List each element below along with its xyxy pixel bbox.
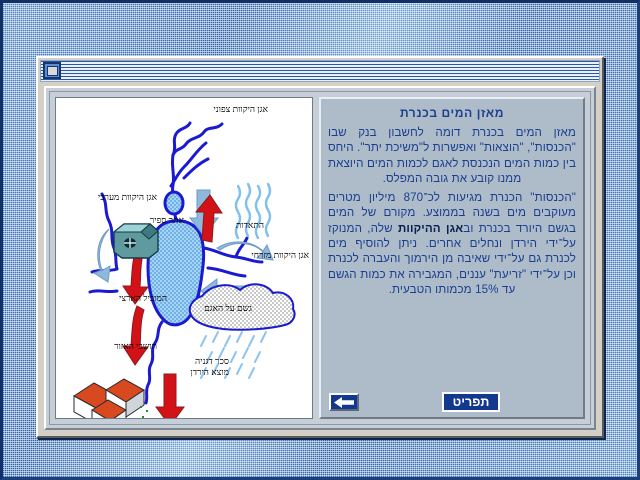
label-degania-dam: סכר דגניה xyxy=(195,356,229,366)
button-row: תפריט xyxy=(321,391,583,413)
jordan-outflow xyxy=(146,322,162,403)
system-box-icon[interactable] xyxy=(43,62,61,79)
label-area-residents: תושבי האזור xyxy=(114,341,157,351)
content-frame: אגן היקוות צפוני אגן היקוות מערבי אגן הי… xyxy=(49,91,591,425)
label-national-carrier: המוביל הארצי xyxy=(119,293,167,303)
pumping-station-icon xyxy=(114,224,158,258)
label-jordan-outlet: מוצא הירדן xyxy=(190,367,229,377)
label-northern-basin: אגן היקוות צפוני xyxy=(213,104,268,114)
back-button[interactable] xyxy=(329,393,359,411)
label-rain-on-lake: גשם על האגם xyxy=(204,303,252,313)
label-western-basin: אגן היקוות מערבי xyxy=(98,192,157,202)
left-arrow-icon xyxy=(334,397,354,408)
panel-title: מאזן המים בכנרת xyxy=(328,106,576,120)
paragraph-1: מאזן המים בכנרת דומה לחשבון בנק שבו "הכנ… xyxy=(328,125,576,186)
water-cycle-diagram: אגן היקוות צפוני אגן היקוות מערבי אגן הי… xyxy=(55,97,313,419)
paragraph-2: "הכנסות" הכנרת מגיעות לכ־870 מיליון מטרי… xyxy=(328,190,576,297)
paragraph-2-emphasis: אגן ההיקוות xyxy=(398,222,463,235)
label-eastern-basin: אגן היקוות מזרחי xyxy=(251,250,309,260)
application-window: אגן היקוות צפוני אגן היקוות מערבי אגן הי… xyxy=(36,56,604,438)
desktop-background: אגן היקוות צפוני אגן היקוות מערבי אגן הי… xyxy=(0,0,640,480)
label-evaporation: התאדות xyxy=(236,220,264,230)
menu-button[interactable]: תפריט xyxy=(442,392,501,412)
label-sapir-site: אתר ספיר xyxy=(150,215,184,225)
window-titlebar[interactable] xyxy=(40,60,600,82)
houses-icon xyxy=(70,379,148,419)
text-panel: מאזן המים בכנרת מאזן המים בכנרת דומה לחש… xyxy=(319,97,585,419)
window-client-area: אגן היקוות צפוני אגן היקוות מערבי אגן הי… xyxy=(44,86,596,430)
panel-body: מאזן המים בכנרת דומה לחשבון בנק שבו "הכנ… xyxy=(328,125,576,297)
